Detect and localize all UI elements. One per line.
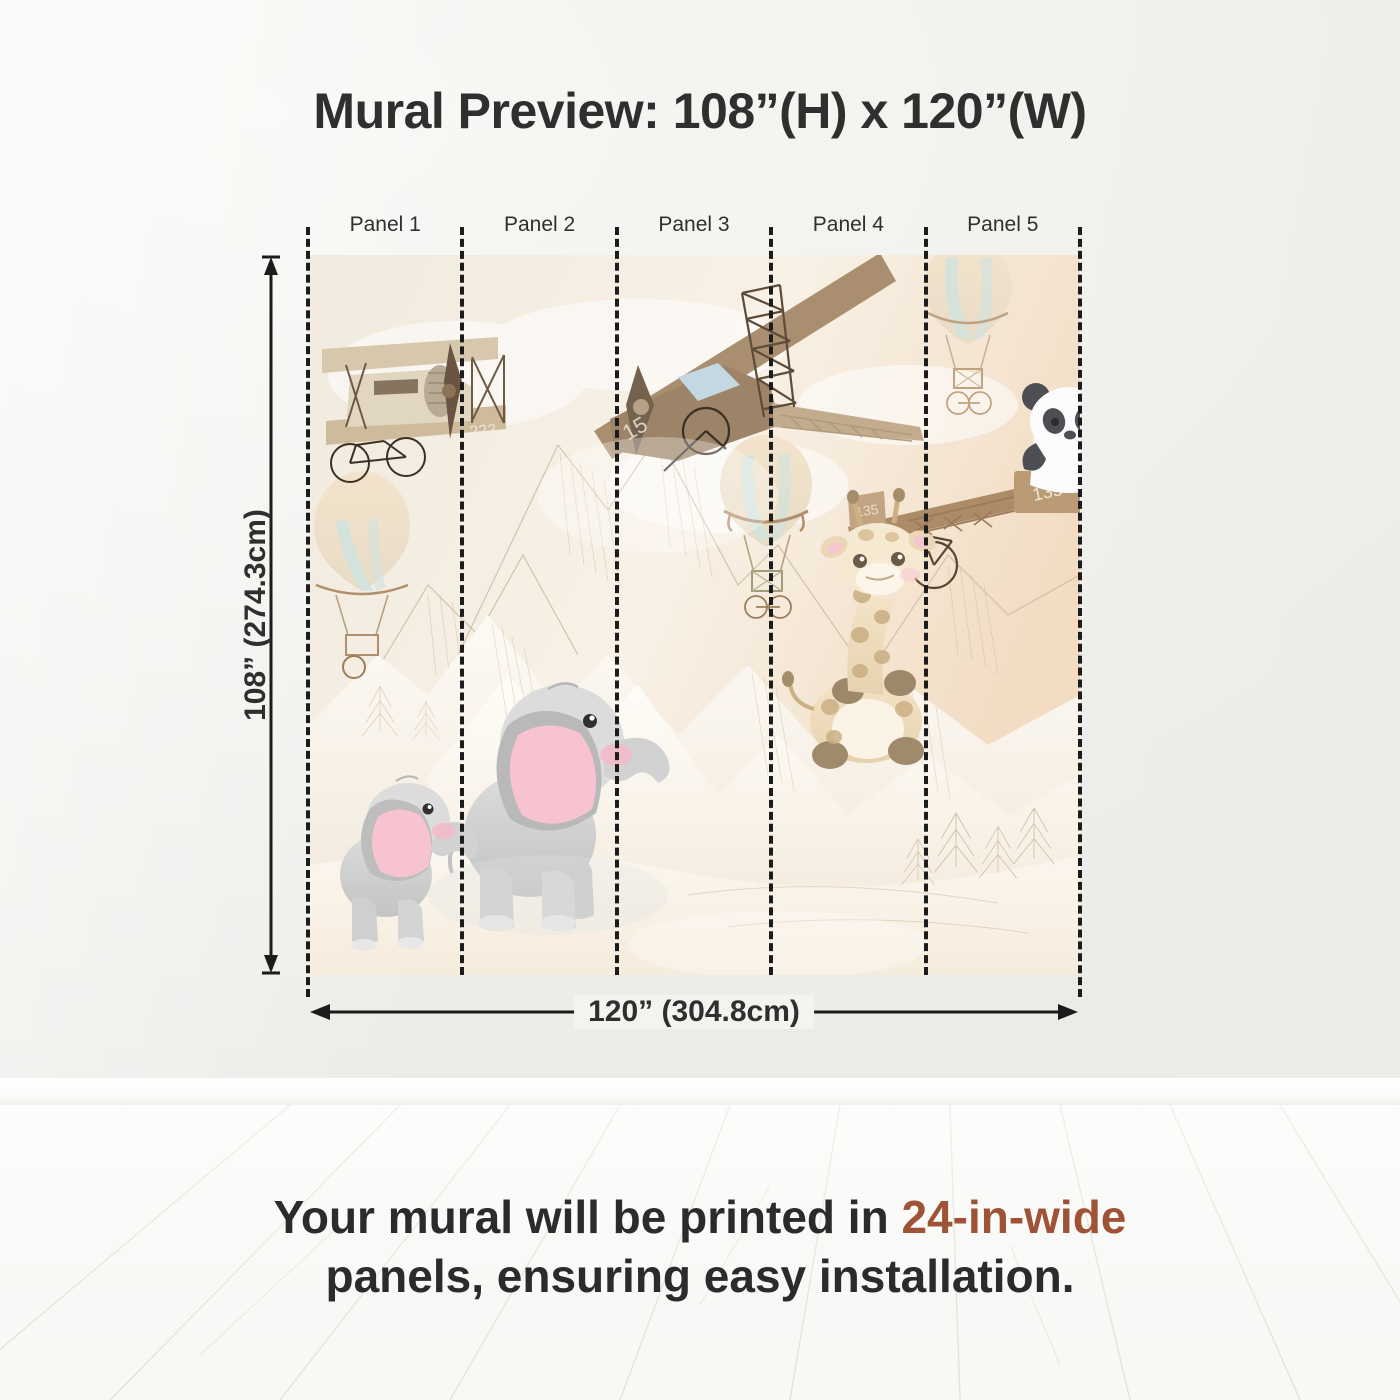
footer-accent-panel-width: 24-in-wide [901,1191,1126,1243]
mural-artwork: 222 158 [308,255,1080,975]
width-dimension-label: 120” (304.8cm) [574,995,814,1029]
panel-label-1: Panel 1 [308,213,462,237]
panel-divider-right-edge [1078,227,1082,997]
footer-line-1-prefix: Your mural will be printed in [274,1191,902,1243]
wall-baseboard [0,1078,1400,1108]
panel-label-5: Panel 5 [926,213,1080,237]
panel-label-2: Panel 2 [462,213,616,237]
footer-line-2: panels, ensuring easy installation. [0,1247,1400,1306]
panel-label-3: Panel 3 [617,213,771,237]
page-title: Mural Preview: 108”(H) x 120”(W) [0,82,1400,140]
footer-line-1: Your mural will be printed in 24-in-wide [0,1188,1400,1247]
width-dimension: 120” (304.8cm) [308,990,1080,1034]
height-dimension: 108” (274.3cm) [258,255,284,975]
panel-divider-4 [924,227,928,975]
panel-divider-2 [615,227,619,975]
panel-divider-left-edge [306,227,310,997]
panel-divider-1 [460,227,464,975]
mural-preview-stage: Mural Preview: 108”(H) x 120”(W) 108” (2… [0,0,1400,1400]
svg-text:222: 222 [469,422,497,441]
panel-label-4: Panel 4 [771,213,925,237]
mural-preview-area[interactable]: 222 158 [308,255,1080,975]
height-dimension-label: 108” (274.3cm) [239,509,273,721]
panel-divider-3 [769,227,773,975]
footer-note: Your mural will be printed in 24-in-wide… [0,1188,1400,1306]
